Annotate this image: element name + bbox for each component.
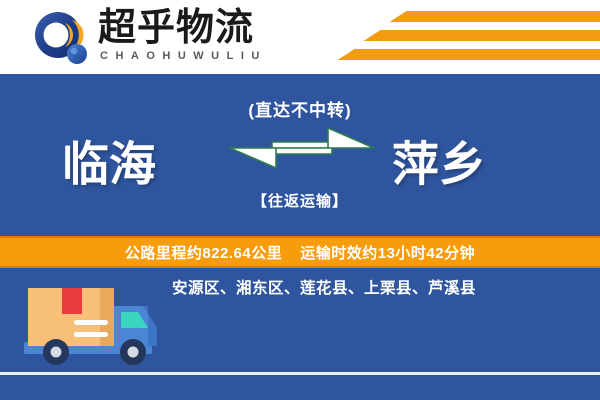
destination-city: 萍乡 bbox=[392, 141, 486, 188]
origin-city: 临海 bbox=[62, 141, 156, 188]
brand-name-cn: 超乎物流 bbox=[98, 6, 254, 50]
circle-crescent-logo-icon bbox=[32, 10, 90, 68]
logistics-route-banner: 超乎物流 CHAOHUWULIU (直达不中转) 临海 萍乡 【往返运输】 公路… bbox=[0, 0, 600, 400]
stripe-1 bbox=[388, 10, 600, 23]
delivery-truck-icon bbox=[18, 276, 170, 372]
stripe-3 bbox=[336, 48, 600, 61]
route-note-direct: (直达不中转) bbox=[0, 96, 600, 121]
stripe-2 bbox=[362, 29, 600, 42]
brand-name-pinyin: CHAOHUWULIU bbox=[100, 50, 267, 62]
baseline-divider bbox=[0, 372, 600, 375]
bidirectional-arrow-icon bbox=[228, 126, 376, 170]
header: 超乎物流 CHAOHUWULIU bbox=[0, 0, 600, 74]
distance-text: 公路里程约822.64公里 bbox=[125, 242, 282, 263]
info-bar: 公路里程约822.64公里 运输时效约13小时42分钟 bbox=[0, 236, 600, 268]
route-section: (直达不中转) 临海 萍乡 【往返运输】 bbox=[0, 74, 600, 236]
duration-text: 运输时效约13小时42分钟 bbox=[300, 242, 475, 263]
route-note-roundtrip: 【往返运输】 bbox=[0, 190, 600, 211]
decorative-stripes bbox=[310, 8, 600, 68]
coverage-section: 安源区、湘东区、莲花县、上栗县、芦溪县 bbox=[0, 268, 600, 400]
coverage-areas-text: 安源区、湘东区、莲花县、上栗县、芦溪县 bbox=[172, 278, 582, 300]
